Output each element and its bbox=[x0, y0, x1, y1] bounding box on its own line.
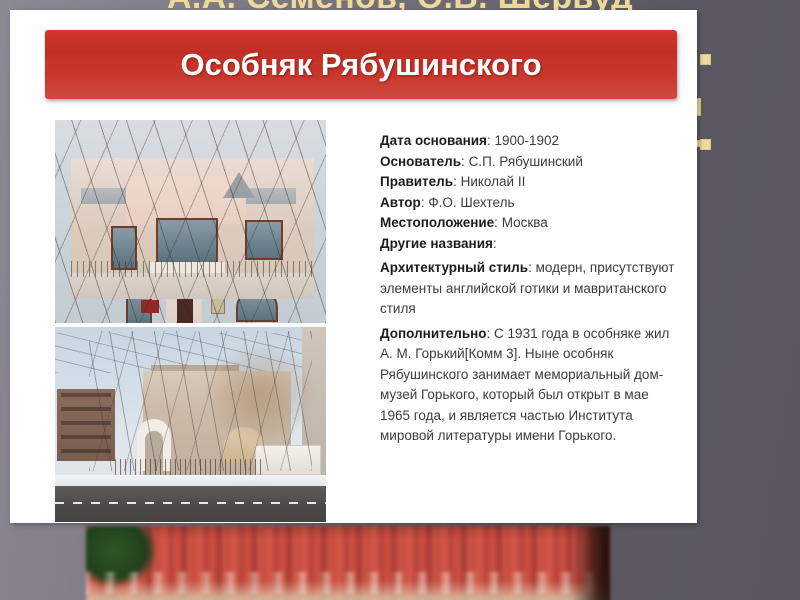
presentation-slide: А.А. Семенов, О.В. Шервуд Особняк Рябуши… bbox=[0, 0, 800, 600]
info-row: Местоположение: Москва bbox=[380, 213, 680, 234]
photo-bare-trees bbox=[55, 120, 326, 323]
photo-facade-detail bbox=[86, 572, 610, 594]
bullet-square-icon bbox=[700, 54, 711, 65]
info-separator: : bbox=[487, 326, 495, 341]
info-separator: : bbox=[453, 174, 461, 189]
photo-road-marking bbox=[55, 502, 326, 504]
red-building-background-photo bbox=[86, 526, 610, 600]
mansion-winter-street-photo bbox=[55, 327, 326, 522]
photo-shadow-edge bbox=[570, 526, 610, 600]
info-label: Автор bbox=[380, 195, 421, 210]
info-separator: : bbox=[493, 236, 497, 251]
title-banner: Особняк Рябушинского bbox=[45, 30, 677, 99]
info-label: Архитектурный стиль bbox=[380, 260, 528, 275]
content-card: Особняк Рябушинского bbox=[10, 10, 697, 523]
info-value: С 1931 года в особняке жил А. М. Горький… bbox=[380, 326, 669, 444]
info-row: Автор: Ф.О. Шехтель bbox=[380, 193, 680, 214]
info-row: Правитель: Николай II bbox=[380, 172, 680, 193]
info-value: Ф.О. Шехтель bbox=[428, 195, 514, 210]
info-value: 1900-1902 bbox=[494, 133, 559, 148]
info-label: Дата основания bbox=[380, 133, 487, 148]
info-label: Правитель bbox=[380, 174, 453, 189]
info-row: Другие названия: bbox=[380, 234, 680, 255]
info-separator: : bbox=[528, 260, 536, 275]
info-value: Николай II bbox=[461, 174, 526, 189]
info-value: С.П. Рябушинский bbox=[469, 154, 583, 169]
photo-road bbox=[55, 486, 326, 522]
info-block: Дата основания: 1900-1902 Основатель: С.… bbox=[380, 131, 680, 447]
info-row: Дата основания: 1900-1902 bbox=[380, 131, 680, 152]
info-label: Основатель bbox=[380, 154, 461, 169]
info-label: Другие названия bbox=[380, 236, 493, 251]
photo-bare-trees bbox=[89, 331, 312, 471]
info-row: Основатель: С.П. Рябушинский bbox=[380, 152, 680, 173]
info-label: Местоположение bbox=[380, 215, 494, 230]
info-label: Дополнительно bbox=[380, 326, 487, 341]
bullet-square-icon bbox=[700, 139, 711, 150]
info-value: Москва bbox=[502, 215, 548, 230]
mansion-facade-photo bbox=[55, 120, 326, 323]
info-row-additional: Дополнительно: С 1931 года в особняке жи… bbox=[380, 324, 680, 447]
info-separator: : bbox=[461, 154, 469, 169]
info-row-architectural-style: Архитектурный стиль: модерн, присутствую… bbox=[380, 258, 680, 320]
info-separator: : bbox=[494, 215, 502, 230]
banner-title-text: Особняк Рябушинского bbox=[180, 47, 541, 83]
